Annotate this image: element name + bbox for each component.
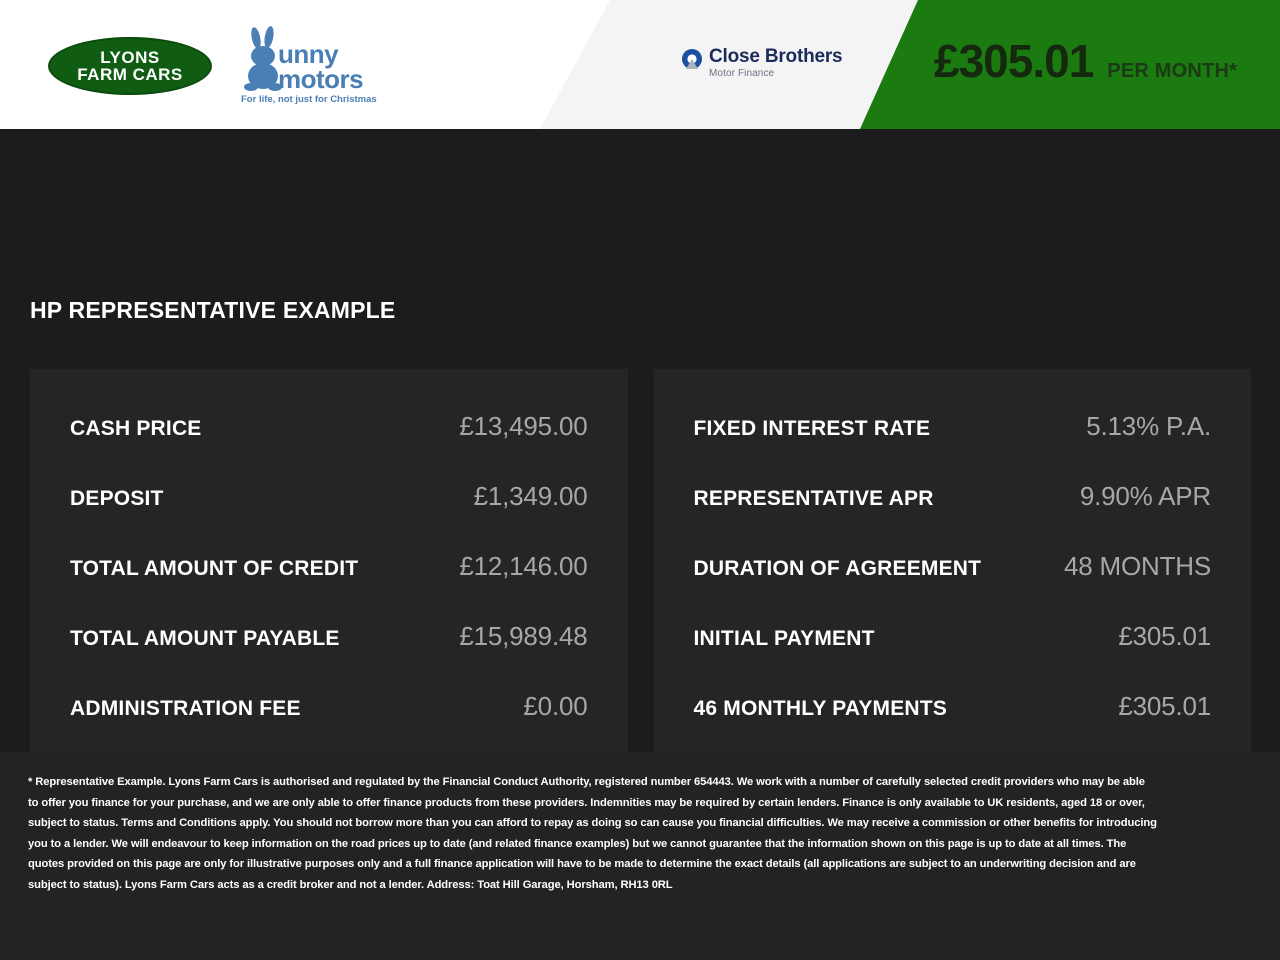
finance-row-label: ADMINISTRATION FEE <box>70 697 301 721</box>
finance-row-value: £13,495.00 <box>459 411 587 442</box>
finance-row-value: £305.01 <box>1118 621 1211 652</box>
finance-row-value: 5.13% P.A. <box>1086 411 1211 442</box>
finance-row-value: £15,989.48 <box>459 621 587 652</box>
finance-row-value: 48 MONTHS <box>1064 551 1211 582</box>
close-brothers-wordmark: Close Brothers Motor Finance <box>709 47 842 79</box>
finance-row-label: TOTAL AMOUNT OF CREDIT <box>70 557 358 581</box>
finance-row-label: 46 MONTHLY PAYMENTS <box>694 697 948 721</box>
close-brothers-logo[interactable]: Close Brothers Motor Finance <box>681 47 842 79</box>
footer-disclaimer-area: * Representative Example. Lyons Farm Car… <box>0 752 1280 960</box>
close-brothers-title: Close Brothers <box>709 47 842 66</box>
finance-row: FIXED INTEREST RATE5.13% P.A. <box>674 411 1232 481</box>
finance-row-label: FIXED INTEREST RATE <box>694 417 931 441</box>
finance-row: CASH PRICE£13,495.00 <box>50 411 608 481</box>
finance-row-value: 9.90% APR <box>1080 481 1211 512</box>
finance-row: 46 MONTHLY PAYMENTS£305.01 <box>674 691 1232 761</box>
monthly-price-period: PER MONTH* <box>1107 60 1237 83</box>
lyons-logo-line2: FARM CARS <box>77 66 183 83</box>
lyons-farm-cars-logo[interactable]: LYONS FARM CARS <box>48 37 212 95</box>
bunny-motors-logo[interactable]: unny motors For life, not just for Chris… <box>238 26 384 106</box>
monthly-price-amount: £305.01 <box>934 38 1093 84</box>
finance-row: TOTAL AMOUNT OF CREDIT£12,146.00 <box>50 551 608 621</box>
finance-row: REPRESENTATIVE APR9.90% APR <box>674 481 1232 551</box>
finance-row-value: £0.00 <box>523 691 587 722</box>
finance-example-page: LYONS FARM CARS unny motors <box>0 0 1280 960</box>
close-brothers-circle-mark-icon <box>681 48 703 77</box>
page-header: LYONS FARM CARS unny motors <box>0 0 1280 129</box>
finance-row: ADMINISTRATION FEE£0.00 <box>50 691 608 761</box>
svg-text:motors: motors <box>278 64 363 94</box>
close-brothers-subtitle: Motor Finance <box>709 69 842 79</box>
finance-row-label: INITIAL PAYMENT <box>694 627 875 651</box>
finance-row: TOTAL AMOUNT PAYABLE£15,989.48 <box>50 621 608 691</box>
finance-row: DURATION OF AGREEMENT48 MONTHS <box>674 551 1232 621</box>
finance-row-label: TOTAL AMOUNT PAYABLE <box>70 627 340 651</box>
page-title: HP REPRESENTATIVE EXAMPLE <box>30 297 395 324</box>
bunny-motors-tagline: For life, not just for Christmas <box>241 94 377 105</box>
finance-row-label: REPRESENTATIVE APR <box>694 487 934 511</box>
finance-row-label: CASH PRICE <box>70 417 202 441</box>
lyons-logo-line1: LYONS <box>100 49 160 66</box>
finance-row-label: DURATION OF AGREEMENT <box>694 557 982 581</box>
finance-row: INITIAL PAYMENT£305.01 <box>674 621 1232 691</box>
disclaimer-text: * Representative Example. Lyons Farm Car… <box>28 772 1158 895</box>
finance-row-value: £305.01 <box>1118 691 1211 722</box>
monthly-price-block: £305.01 PER MONTH* <box>934 38 1237 84</box>
finance-row: DEPOSIT£1,349.00 <box>50 481 608 551</box>
finance-row-value: £12,146.00 <box>459 551 587 582</box>
bunny-motors-artwork: unny motors <box>238 26 384 96</box>
finance-row-label: DEPOSIT <box>70 487 164 511</box>
finance-row-value: £1,349.00 <box>474 481 588 512</box>
